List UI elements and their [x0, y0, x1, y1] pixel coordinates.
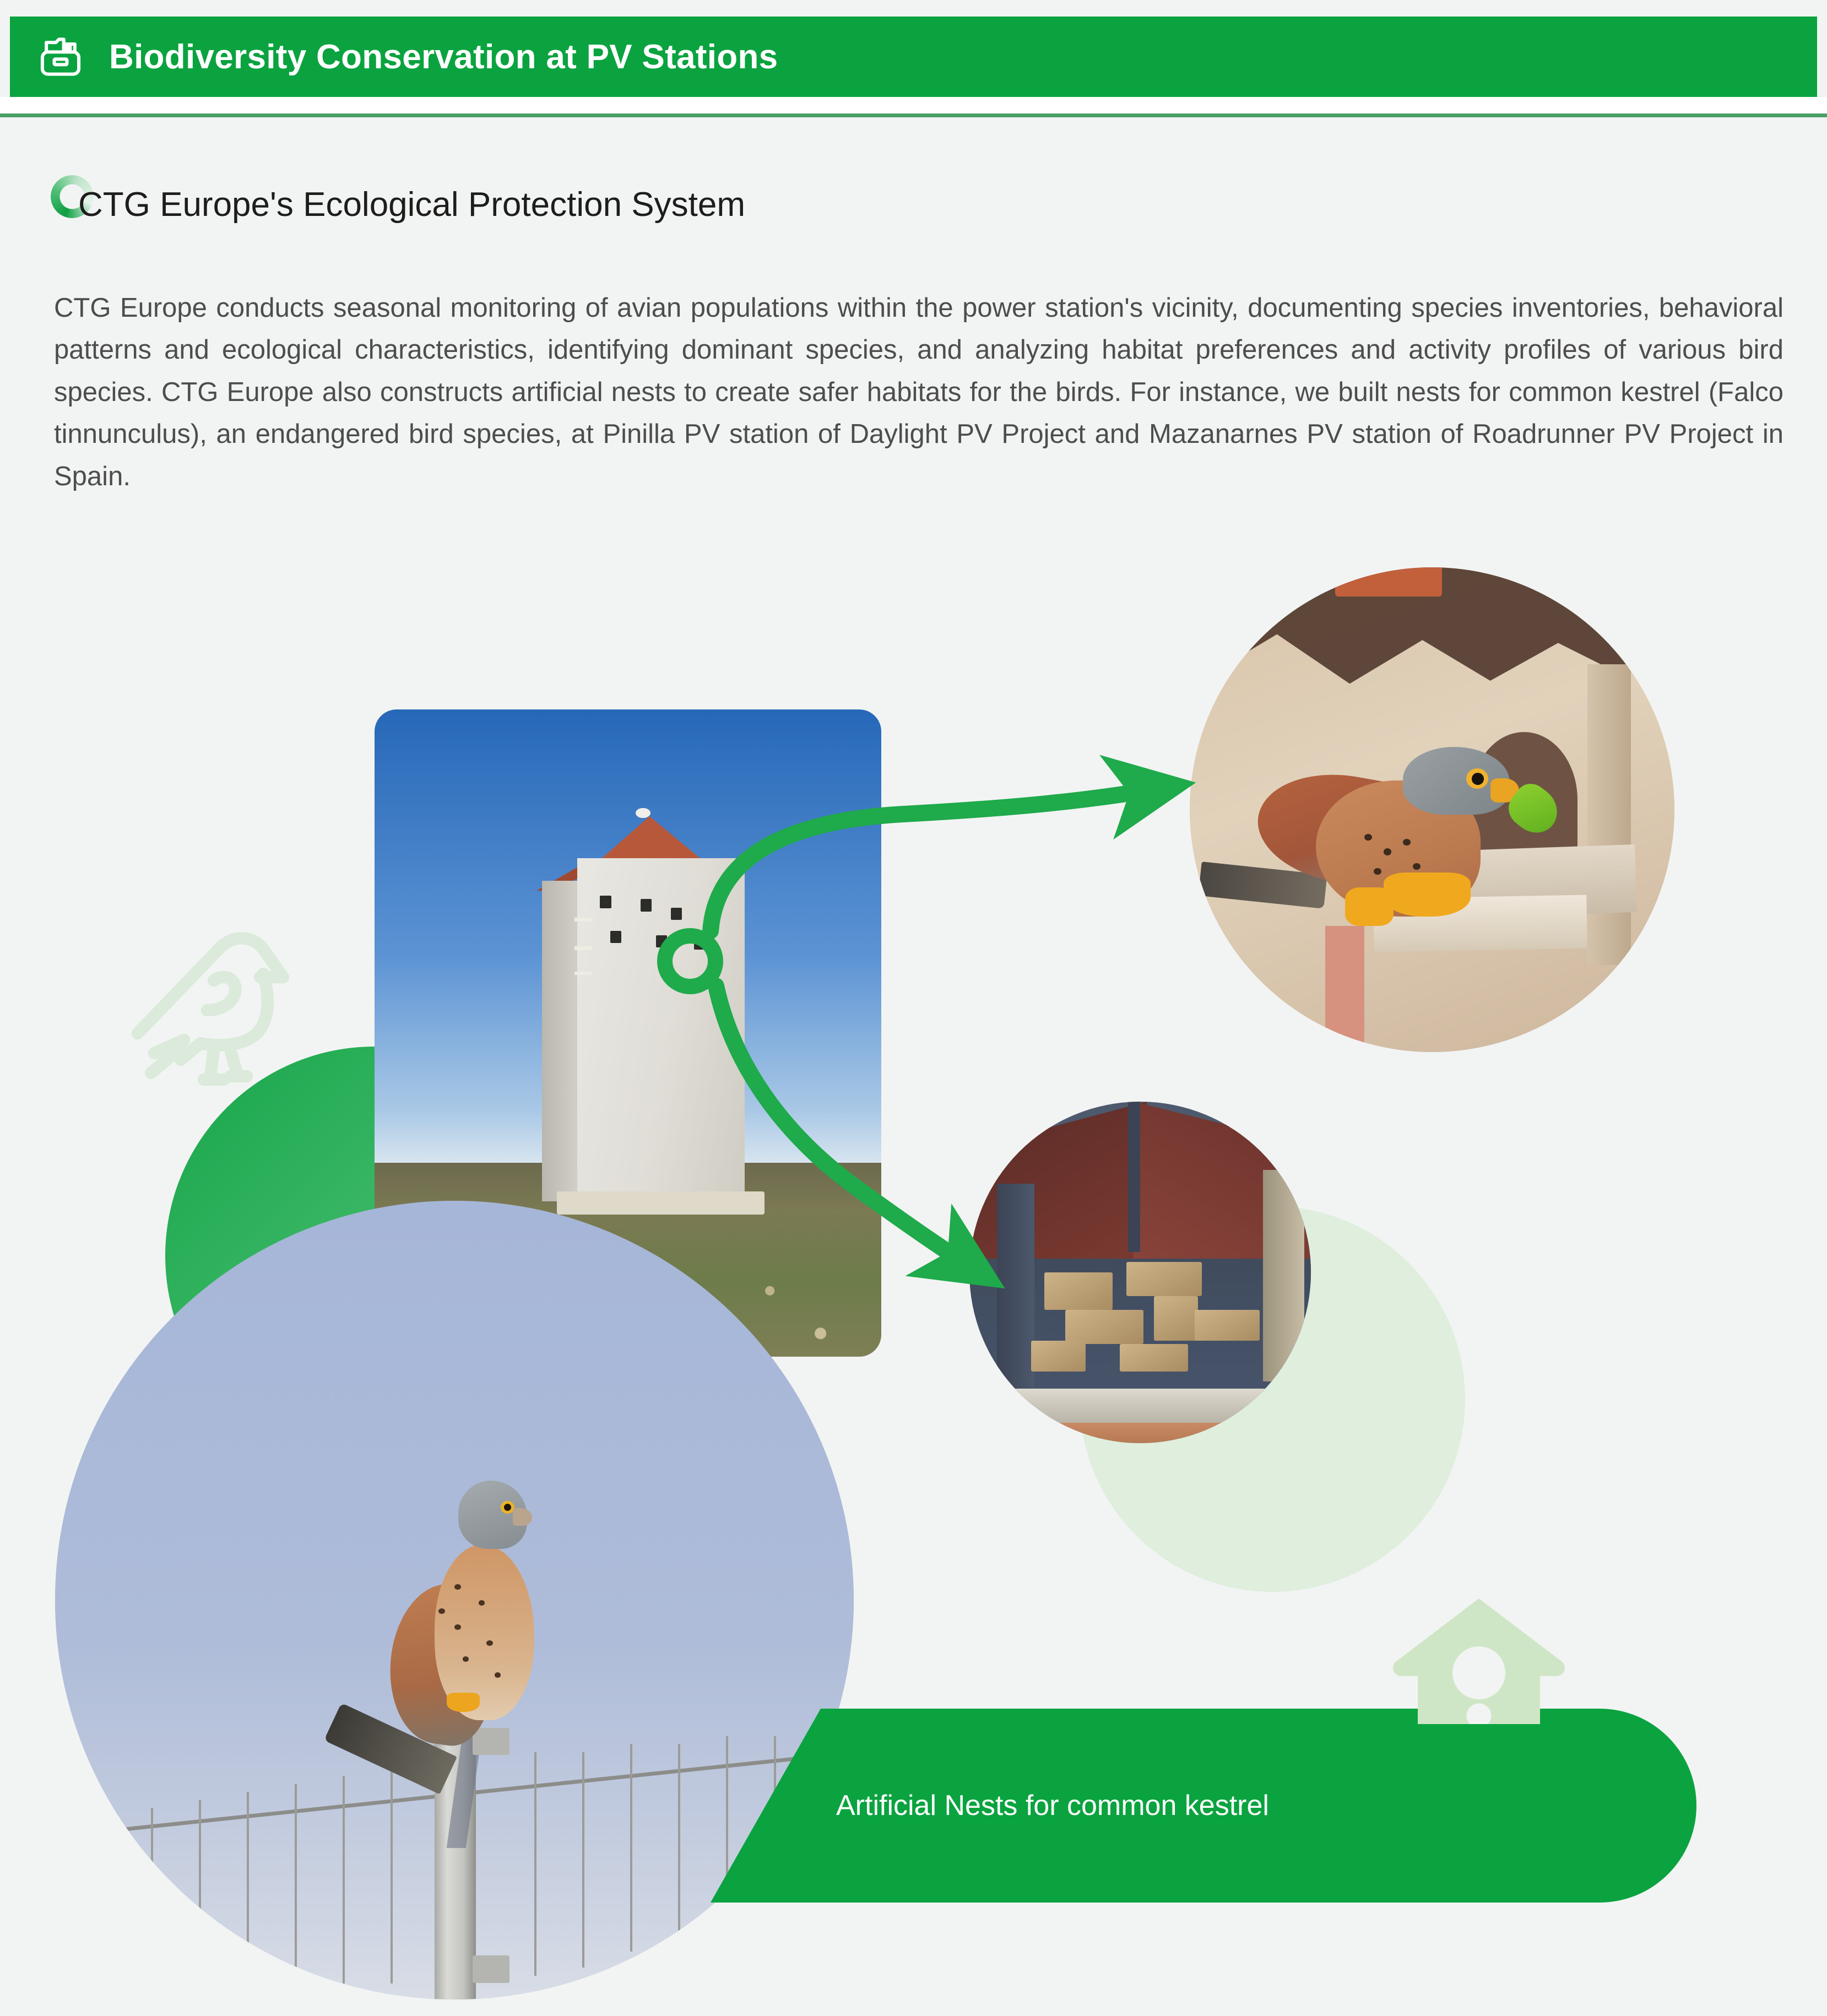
- nest-compartment: [1195, 1310, 1260, 1341]
- nest-ridge-beam: [1128, 1102, 1140, 1252]
- nest-box-hole: [656, 935, 667, 947]
- nest-compartment: [1120, 1344, 1188, 1372]
- nest-compartment: [1044, 1272, 1113, 1310]
- header-underlay: [0, 97, 1827, 113]
- tower-front-wall: [577, 858, 745, 1201]
- kestrel-at-nest-box-photo: [1190, 567, 1674, 1052]
- nest-box-ledge: [574, 946, 592, 950]
- fence-bracket: [473, 1955, 509, 1982]
- body-paragraph: CTG Europe conducts seasonal monitoring …: [54, 287, 1783, 497]
- fence-bracket: [473, 1728, 509, 1755]
- page-title: CTG Europe's Ecological Protection Syste…: [78, 185, 745, 224]
- plumage-speck: [454, 1624, 461, 1630]
- page-header: Biodiversity Conservation at PV Stations: [10, 17, 1817, 97]
- banner-label: Artificial Nests for common kestrel: [836, 1789, 1269, 1822]
- red-brick-top: [1335, 567, 1442, 597]
- nest-roof-left: [969, 1102, 1147, 1259]
- plumage-speck: [495, 1672, 501, 1678]
- nest-compartment: [1031, 1341, 1086, 1372]
- nest-box-hole: [600, 896, 611, 908]
- kestrel-beak: [513, 1508, 532, 1526]
- nest-box-hole: [671, 908, 682, 920]
- fence-wire: [199, 1800, 201, 1984]
- plumage-speck: [463, 1656, 469, 1662]
- concrete-pillar: [1587, 664, 1631, 965]
- fence-wire: [247, 1792, 249, 1984]
- caption-banner: Artificial Nests for common kestrel: [711, 1709, 1696, 1903]
- nest-box-ledge: [574, 972, 592, 975]
- nest-box-hole: [641, 899, 652, 911]
- nest-compartment: [1065, 1310, 1144, 1344]
- fence-wire: [630, 1744, 632, 1952]
- section-heading: CTG Europe's Ecological Protection Syste…: [53, 174, 745, 235]
- birdhouse-icon: [1388, 1592, 1570, 1724]
- fence-wire: [534, 1752, 536, 1976]
- archive-box-icon: [35, 31, 86, 82]
- nest-side-board-right: [1263, 1170, 1304, 1381]
- nest-box-ledge: [574, 918, 592, 921]
- nest-compartment: [1154, 1296, 1199, 1341]
- kestrel-eye: [1466, 768, 1488, 789]
- fence-wire: [391, 1768, 393, 1984]
- fence-wire: [678, 1744, 680, 1944]
- fence-wire: [295, 1784, 297, 1984]
- kestrel-talons: [1384, 872, 1471, 916]
- fence-wire: [151, 1808, 153, 1984]
- plumage-speck: [479, 1600, 485, 1606]
- plumage-speck: [486, 1640, 493, 1646]
- pink-post: [1325, 926, 1364, 1052]
- plumage-speck: [454, 1584, 461, 1590]
- header-divider: [0, 113, 1827, 117]
- fence-wire: [343, 1776, 345, 1984]
- fence-wire: [582, 1752, 584, 1968]
- plumage-speck: [1384, 848, 1391, 855]
- nest-sill: [969, 1389, 1311, 1423]
- tower-side-wall: [542, 881, 580, 1201]
- nest-box-hole: [694, 937, 705, 950]
- nest-floor: [969, 1423, 1311, 1443]
- plumage-speck: [438, 1608, 445, 1614]
- plumage-speck: [1413, 863, 1421, 870]
- nest-compartment: [1126, 1262, 1201, 1296]
- kestrel-talons: [447, 1693, 480, 1712]
- header-title: Biodiversity Conservation at PV Stations: [109, 37, 778, 77]
- nest-box-hole: [610, 931, 621, 943]
- nest-side-board-left: [997, 1184, 1034, 1416]
- nest-interior-photo: [969, 1102, 1311, 1443]
